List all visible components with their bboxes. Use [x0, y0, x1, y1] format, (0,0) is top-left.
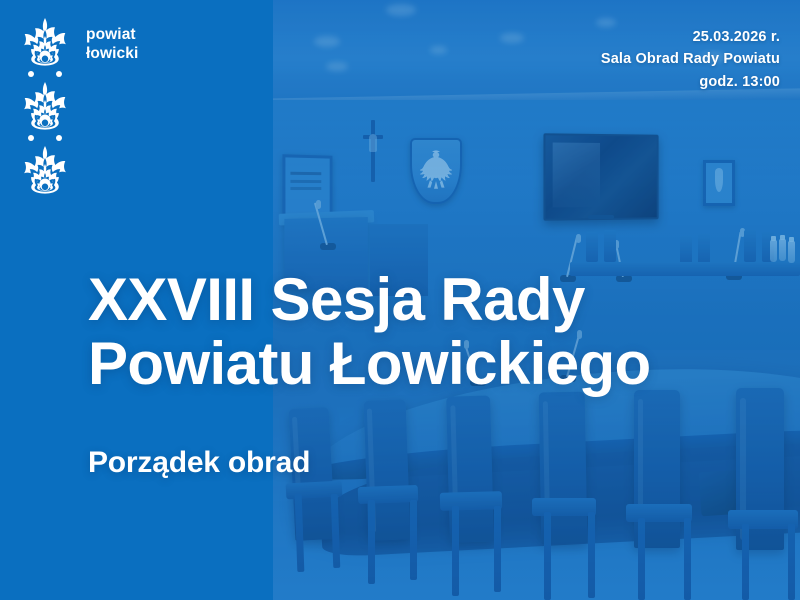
logo-dot-left: [28, 71, 34, 77]
logo-emblems: [18, 16, 72, 196]
lily-emblem-icon: [18, 80, 72, 132]
session-time: godz. 13:00: [601, 71, 780, 93]
logo-dot-right: [56, 71, 62, 77]
lily-emblem-icon: [18, 144, 72, 196]
lily-emblem-icon: [18, 16, 72, 68]
session-place: Sala Obrad Rady Powiatu: [601, 48, 780, 70]
logo-dot-left: [28, 135, 34, 141]
page-title: XXVIII Sesja Rady Powiatu Łowickiego: [88, 268, 788, 395]
logo-dot-right: [56, 135, 62, 141]
logo-separator-dots: [18, 132, 72, 144]
logo-wordmark: powiat łowicki: [86, 16, 138, 63]
page-subtitle: Porządek obrad: [88, 446, 310, 480]
session-meta: 25.03.2026 r. Sala Obrad Rady Powiatu go…: [601, 26, 780, 93]
session-announcement-slide: powiat łowicki 25.03.2026 r. Sala Obrad …: [0, 0, 800, 600]
title-block: XXVIII Sesja Rady Powiatu Łowickiego: [88, 268, 788, 395]
session-date: 25.03.2026 r.: [601, 26, 780, 48]
logo[interactable]: powiat łowicki: [18, 16, 138, 196]
logo-separator-dots: [18, 68, 72, 80]
